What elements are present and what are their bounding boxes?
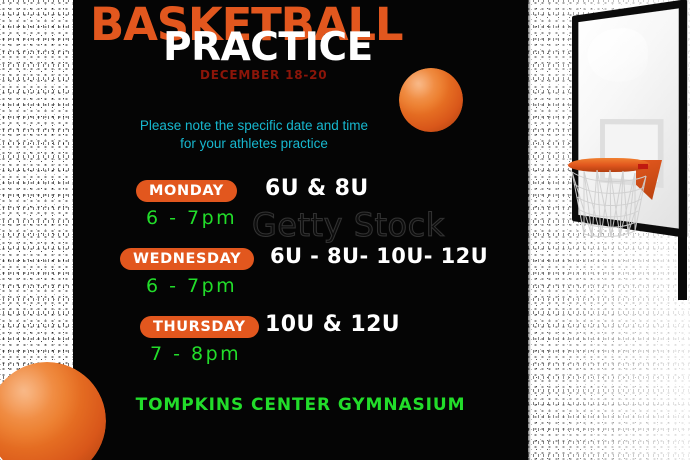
title-dates: DECEMBER 18-20: [200, 68, 327, 82]
time-wednesday: 6 - 7pm: [146, 275, 237, 297]
schedule-list: MONDAY 6U & 8U 6 - 7pm WEDNESDAY 6U - 8U…: [0, 176, 528, 380]
schedule-row-wednesday: WEDNESDAY 6U - 8U- 10U- 12U 6 - 7pm: [0, 244, 528, 312]
basketball-icon-bottom: [0, 362, 106, 460]
practice-note-line1: Please note the specific date and time: [104, 117, 404, 135]
title-practice: PRACTICE: [163, 28, 373, 67]
practice-note-line2: for your athletes practice: [104, 135, 404, 153]
backboard-gloss: [587, 25, 648, 83]
basketball-gloss: [399, 68, 463, 132]
practice-note: Please note the specific date and time f…: [104, 117, 404, 153]
age-groups-wednesday: 6U - 8U- 10U- 12U: [270, 244, 488, 268]
day-badge-thursday: THURSDAY: [140, 316, 259, 338]
day-badge-monday: MONDAY: [136, 180, 237, 202]
basketball-practice-flyer: Getty Stock BASKETBALL PRACTICE DECEMBER…: [0, 0, 690, 460]
venue-name: TOMPKINS CENTER GYMNASIUM: [73, 395, 528, 415]
hoop-net: [570, 168, 648, 238]
time-thursday: 7 - 8pm: [150, 343, 241, 365]
basketball-hoop-icon: [528, 0, 690, 300]
schedule-row-monday: MONDAY 6U & 8U 6 - 7pm: [0, 176, 528, 244]
day-badge-wednesday: WEDNESDAY: [120, 248, 254, 270]
time-monday: 6 - 7pm: [146, 207, 237, 229]
age-groups-thursday: 10U & 12U: [265, 312, 400, 337]
basketball-icon-top: [399, 68, 463, 132]
age-groups-monday: 6U & 8U: [265, 176, 369, 201]
